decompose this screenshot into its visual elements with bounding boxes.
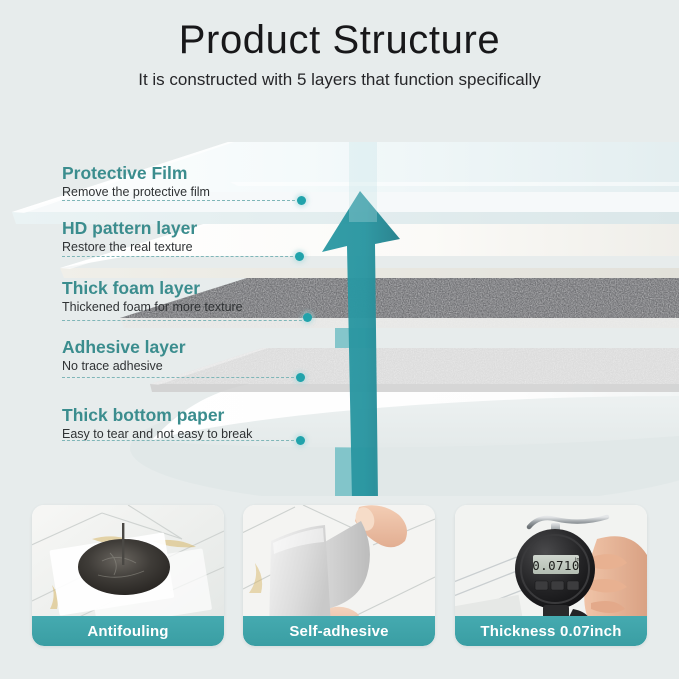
- layer-description: No trace adhesive: [62, 358, 186, 374]
- layer-description: Remove the protective film: [62, 184, 210, 200]
- feature-card-antifouling[interactable]: Antifouling: [32, 505, 224, 646]
- layer-dot-adhesive-layer: [296, 373, 305, 382]
- page-subtitle: It is constructed with 5 layers that fun…: [0, 70, 679, 90]
- label-adhesive-layer: Adhesive layer No trace adhesive: [62, 337, 186, 374]
- page-title: Product Structure: [0, 18, 679, 63]
- gauge-reading: 0.0710: [532, 558, 580, 573]
- leader-line-protective-film: [62, 200, 300, 201]
- layer-description: Thickened foam for more texture: [62, 299, 243, 315]
- layer-heading: Protective Film: [62, 163, 210, 183]
- svg-text:in: in: [575, 557, 580, 563]
- leader-line-hd-pattern-layer: [62, 256, 298, 257]
- layer-heading: Adhesive layer: [62, 337, 186, 357]
- layer-heading: HD pattern layer: [62, 218, 197, 238]
- feature-card-self-adhesive[interactable]: Self-adhesive: [243, 505, 435, 646]
- label-protective-film: Protective Film Remove the protective fi…: [62, 163, 210, 200]
- label-thick-foam-layer: Thick foam layer Thickened foam for more…: [62, 278, 243, 315]
- layer-dot-thick-bottom-paper: [296, 436, 305, 445]
- label-hd-pattern-layer: HD pattern layer Restore the real textur…: [62, 218, 197, 255]
- layer-dot-thick-foam-layer: [303, 313, 312, 322]
- layer-adhesive: [120, 342, 679, 392]
- leader-line-thick-bottom-paper: [62, 440, 299, 441]
- feature-card-thickness[interactable]: 0.0710 in Thickness 0.07inch: [455, 505, 647, 646]
- leader-line-thick-foam-layer: [62, 320, 307, 321]
- arrow-overlay-on-film: [349, 142, 377, 222]
- layer-dot-hd-pattern-layer: [295, 252, 304, 261]
- leader-line-adhesive-layer: [62, 377, 299, 378]
- card-caption: Antifouling: [32, 616, 224, 646]
- layer-description: Restore the real texture: [62, 239, 197, 255]
- card-caption: Self-adhesive: [243, 616, 435, 646]
- layer-dot-protective-film: [297, 196, 306, 205]
- layer-heading: Thick bottom paper: [62, 405, 252, 425]
- product-structure-infographic: Product Structure It is constructed with…: [0, 0, 679, 679]
- card-caption: Thickness 0.07inch: [455, 616, 647, 646]
- label-thick-bottom-paper: Thick bottom paper Easy to tear and not …: [62, 405, 252, 442]
- layer-heading: Thick foam layer: [62, 278, 243, 298]
- feature-cards: Antifouling: [0, 505, 679, 650]
